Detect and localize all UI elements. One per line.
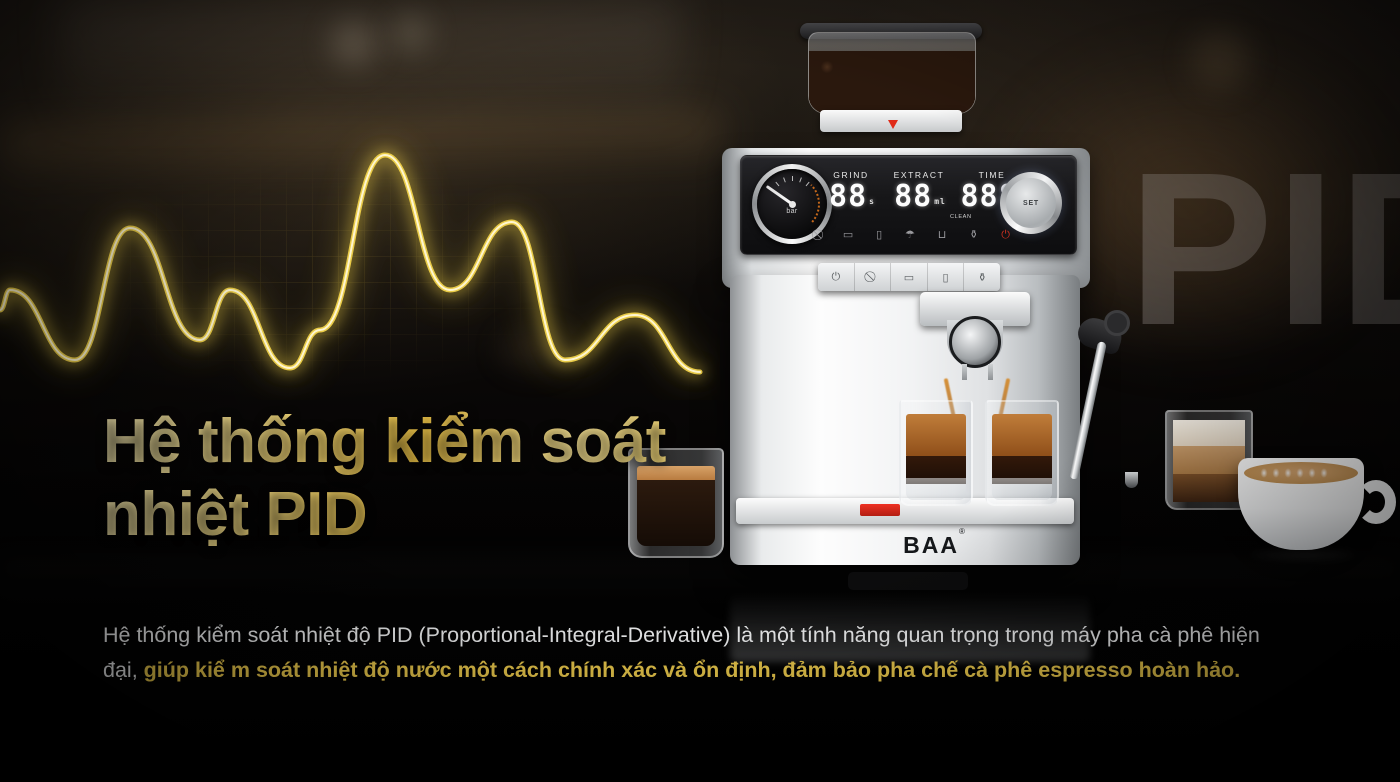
gauge-hub — [789, 201, 796, 208]
page-title: Hệ thống kiểm soát nhiệt PID — [103, 405, 723, 551]
chart-line — [0, 100, 720, 400]
gauge-tick — [806, 182, 810, 186]
gauge-tick — [775, 182, 779, 186]
clean-label: CLEAN — [950, 214, 972, 220]
foam-layer — [1173, 420, 1245, 446]
set-knob[interactable]: SET — [1000, 172, 1062, 234]
grind-indicator-marker — [888, 120, 898, 129]
water-drop-icon: ☂ — [905, 230, 915, 241]
power-heat-icon: ⏻ — [1001, 230, 1010, 241]
steam-wand-icon: ⚱ — [969, 230, 978, 241]
steam-wand-tip — [1125, 472, 1138, 488]
glass-base — [992, 478, 1052, 500]
portafilter-ring — [949, 316, 1001, 368]
glass-base — [906, 478, 966, 500]
readout-extract-digits: 88 — [894, 179, 932, 214]
machine-base-recess — [848, 572, 968, 590]
latte-art-rosetta — [1256, 466, 1340, 480]
banner-root: PID — [0, 0, 1400, 782]
brand-name: BAA — [903, 532, 959, 558]
paragraph-highlight: giúp kiể m soát nhiệt độ nước một cách c… — [144, 658, 1241, 682]
temperature-waveform-chart — [0, 100, 720, 400]
set-knob-label: SET — [1006, 178, 1056, 228]
power-button[interactable]: ⏻ — [818, 263, 855, 291]
description-paragraph: Hệ thống kiểm soát nhiệt độ PID (Proport… — [103, 618, 1293, 688]
bean-hopper — [808, 32, 976, 114]
readout-extract-value: 88ml — [885, 182, 953, 212]
status-icon-row: ⃠ ▭ ▯ ☂ ⊔ ⚱ ⏻ — [820, 230, 1010, 241]
brand-logo: BAA® — [700, 532, 1170, 559]
steam-button[interactable]: ⚱ — [964, 263, 1000, 291]
readout-extract-unit: ml — [934, 197, 946, 206]
gauge-unit-label: bar — [757, 208, 827, 215]
single-cup-icon: ▭ — [843, 230, 853, 241]
espresso-shot-glass-left — [899, 400, 973, 506]
single-shot-button[interactable]: ▭ — [891, 263, 928, 291]
spout-right — [988, 364, 993, 380]
readout-grind-digits: 88 — [829, 179, 867, 214]
readout-grind-value: 88s — [820, 182, 882, 212]
espresso-machine: bar GRIND 88s EXTRACT 88ml TIME 888s CLE… — [700, 20, 1170, 600]
gauge-tick — [799, 177, 802, 182]
bokeh-light-2 — [392, 14, 430, 52]
gauge-tick — [792, 176, 793, 181]
readout-grind: GRIND 88s — [820, 170, 882, 212]
double-shot-button[interactable]: ▯ — [928, 263, 965, 291]
readout-grind-unit: s — [869, 197, 875, 206]
double-cup-icon: ▯ — [876, 230, 882, 241]
brand-trademark: ® — [959, 527, 967, 536]
coffee-beans — [809, 51, 975, 113]
cup-icon: ⊔ — [938, 230, 947, 241]
grind-button[interactable]: ⃠ — [855, 263, 892, 291]
coffee-layer — [1173, 474, 1245, 502]
readout-extract: EXTRACT 88ml — [885, 170, 953, 212]
crema-layer — [906, 414, 966, 458]
bokeh-light-3 — [1190, 30, 1250, 90]
bokeh-light-1 — [330, 20, 376, 66]
crema-layer — [992, 414, 1052, 458]
cup-handle — [1356, 480, 1396, 524]
milk-layer — [1173, 446, 1245, 474]
gauge-face: bar — [757, 169, 827, 239]
physical-button-bar: ⏻ ⃠ ▭ ▯ ⚱ — [818, 263, 1000, 291]
steam-wand-ring — [1104, 310, 1130, 336]
spout-left — [962, 364, 967, 380]
drip-tray-indicator — [860, 504, 900, 516]
espresso-shot-glass-right — [985, 400, 1059, 506]
gauge-tick — [783, 177, 786, 182]
